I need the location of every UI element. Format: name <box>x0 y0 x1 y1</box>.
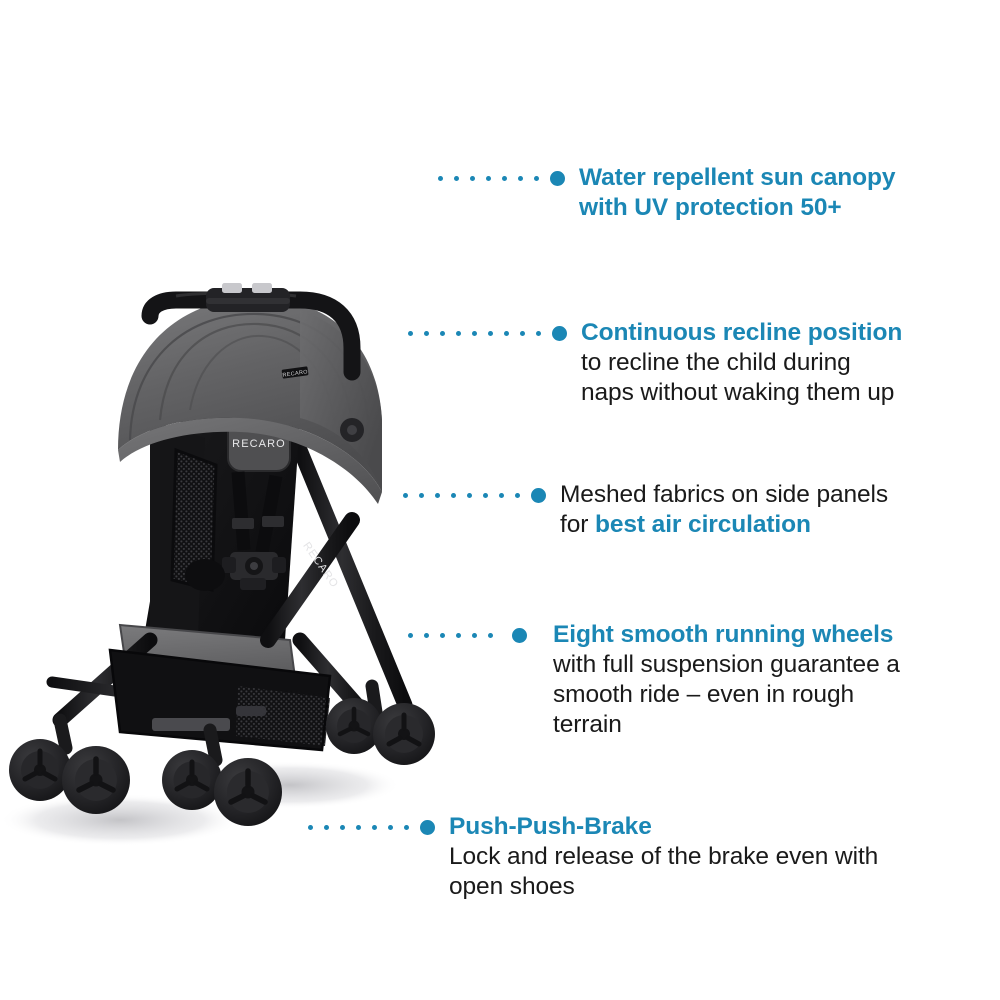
leader-dot <box>486 176 491 181</box>
wheel <box>326 698 382 754</box>
callout-emphasis: best air circulation <box>595 511 811 538</box>
callout-text: Meshed fabrics on side panels for best a… <box>560 480 888 540</box>
callout-body-line: smooth ride – even in rough <box>553 680 900 710</box>
callout-body-line-mixed: for best air circulation <box>560 510 888 540</box>
crotch-pad <box>185 559 225 591</box>
product-image: RECARO <box>0 120 470 920</box>
leader-dot <box>515 493 520 498</box>
harness-adjuster-right <box>262 516 284 527</box>
leader-dot <box>467 493 472 498</box>
leader-dot <box>424 331 429 336</box>
leader-dot <box>372 825 377 830</box>
leader-dot <box>488 331 493 336</box>
harness-adjuster-left <box>232 518 254 529</box>
callout-push-push-brake: Push-Push-Brake Lock and release of the … <box>308 812 878 902</box>
recaro-headrest-wordmark: RECARO <box>232 438 286 450</box>
leader-dot <box>440 331 445 336</box>
callout-bullet <box>550 171 565 186</box>
leader-dot <box>454 176 459 181</box>
leader-dot <box>424 633 429 638</box>
leader-dot <box>356 825 361 830</box>
stroller-illustration: RECARO <box>0 120 470 920</box>
leader-dot <box>504 331 509 336</box>
wheel-fork <box>60 720 66 748</box>
wheel <box>214 758 282 826</box>
callout-meshed-fabrics: Meshed fabrics on side panels for best a… <box>403 480 888 540</box>
callout-body-line: with full suspension guarantee a <box>553 650 900 680</box>
leader-dot <box>472 331 477 336</box>
callout-heading: Water repellent sun canopy <box>579 163 895 193</box>
callout-sun-canopy: Water repellent sun canopy with UV prote… <box>438 163 895 223</box>
callout-bullet <box>531 488 546 503</box>
leader-dot <box>438 176 443 181</box>
callout-heading: Eight smooth running wheels <box>553 620 900 650</box>
leader-dot <box>502 176 507 181</box>
push-push-brake-pedal[interactable] <box>236 706 266 716</box>
frame-hinge <box>340 418 364 442</box>
leader-dot <box>324 825 329 830</box>
leader-dot <box>472 633 477 638</box>
leader-dot <box>470 176 475 181</box>
callout-body-line: naps without waking them up <box>581 378 902 408</box>
leader-line <box>408 318 567 348</box>
leader-dot <box>451 493 456 498</box>
wheel <box>62 746 130 814</box>
callout-text: Water repellent sun canopy with UV prote… <box>579 163 895 223</box>
handlebar-adjust-clamp[interactable] <box>206 283 290 312</box>
basket-strap <box>152 718 230 731</box>
wheel <box>9 739 71 801</box>
leader-dot <box>534 176 539 181</box>
harness-strap-left <box>238 472 244 550</box>
callout-text: Continuous recline position to recline t… <box>581 318 902 408</box>
infographic-canvas: RECARO <box>0 0 1000 1000</box>
callout-recline-position: Continuous recline position to recline t… <box>408 318 902 408</box>
leader-dot <box>408 331 413 336</box>
leader-dot <box>488 633 493 638</box>
leader-dot <box>456 331 461 336</box>
wheel <box>162 750 222 810</box>
leader-dot <box>520 331 525 336</box>
callout-body-line: open shoes <box>449 872 878 902</box>
callout-text: Eight smooth running wheels with full su… <box>553 620 900 740</box>
leader-dot <box>456 633 461 638</box>
leader-dot <box>419 493 424 498</box>
leader-line <box>438 163 565 193</box>
callout-body-line: to recline the child during <box>581 348 902 378</box>
leader-dot <box>308 825 313 830</box>
callout-bullet <box>420 820 435 835</box>
leader-dot <box>518 176 523 181</box>
callout-body-line: terrain <box>553 710 900 740</box>
leader-dot <box>403 493 408 498</box>
leader-dot <box>408 633 413 638</box>
callout-heading: Continuous recline position <box>581 318 902 348</box>
leader-line <box>308 812 435 842</box>
leader-dot <box>536 331 541 336</box>
leader-dot <box>340 825 345 830</box>
leader-dot <box>404 825 409 830</box>
wheel-assembly-front-left <box>9 720 130 814</box>
callout-body-line: Meshed fabrics on side panels <box>560 480 888 510</box>
callout-heading-line2: with UV protection 50+ <box>579 193 895 223</box>
callout-bullet <box>552 326 567 341</box>
wheel-fork <box>210 730 216 760</box>
leader-dot <box>388 825 393 830</box>
callout-text: Push-Push-Brake Lock and release of the … <box>449 812 878 902</box>
leader-dot <box>440 633 445 638</box>
leader-line <box>403 480 546 510</box>
leader-dot <box>435 493 440 498</box>
callout-bullet <box>512 628 527 643</box>
callout-heading: Push-Push-Brake <box>449 812 878 842</box>
leader-line <box>408 620 527 650</box>
leader-dot <box>483 493 488 498</box>
callout-body-line: Lock and release of the brake even with <box>449 842 878 872</box>
leader-dot <box>499 493 504 498</box>
callout-body-prefix: for <box>560 511 595 538</box>
callout-running-wheels: Eight smooth running wheels with full su… <box>408 620 900 740</box>
